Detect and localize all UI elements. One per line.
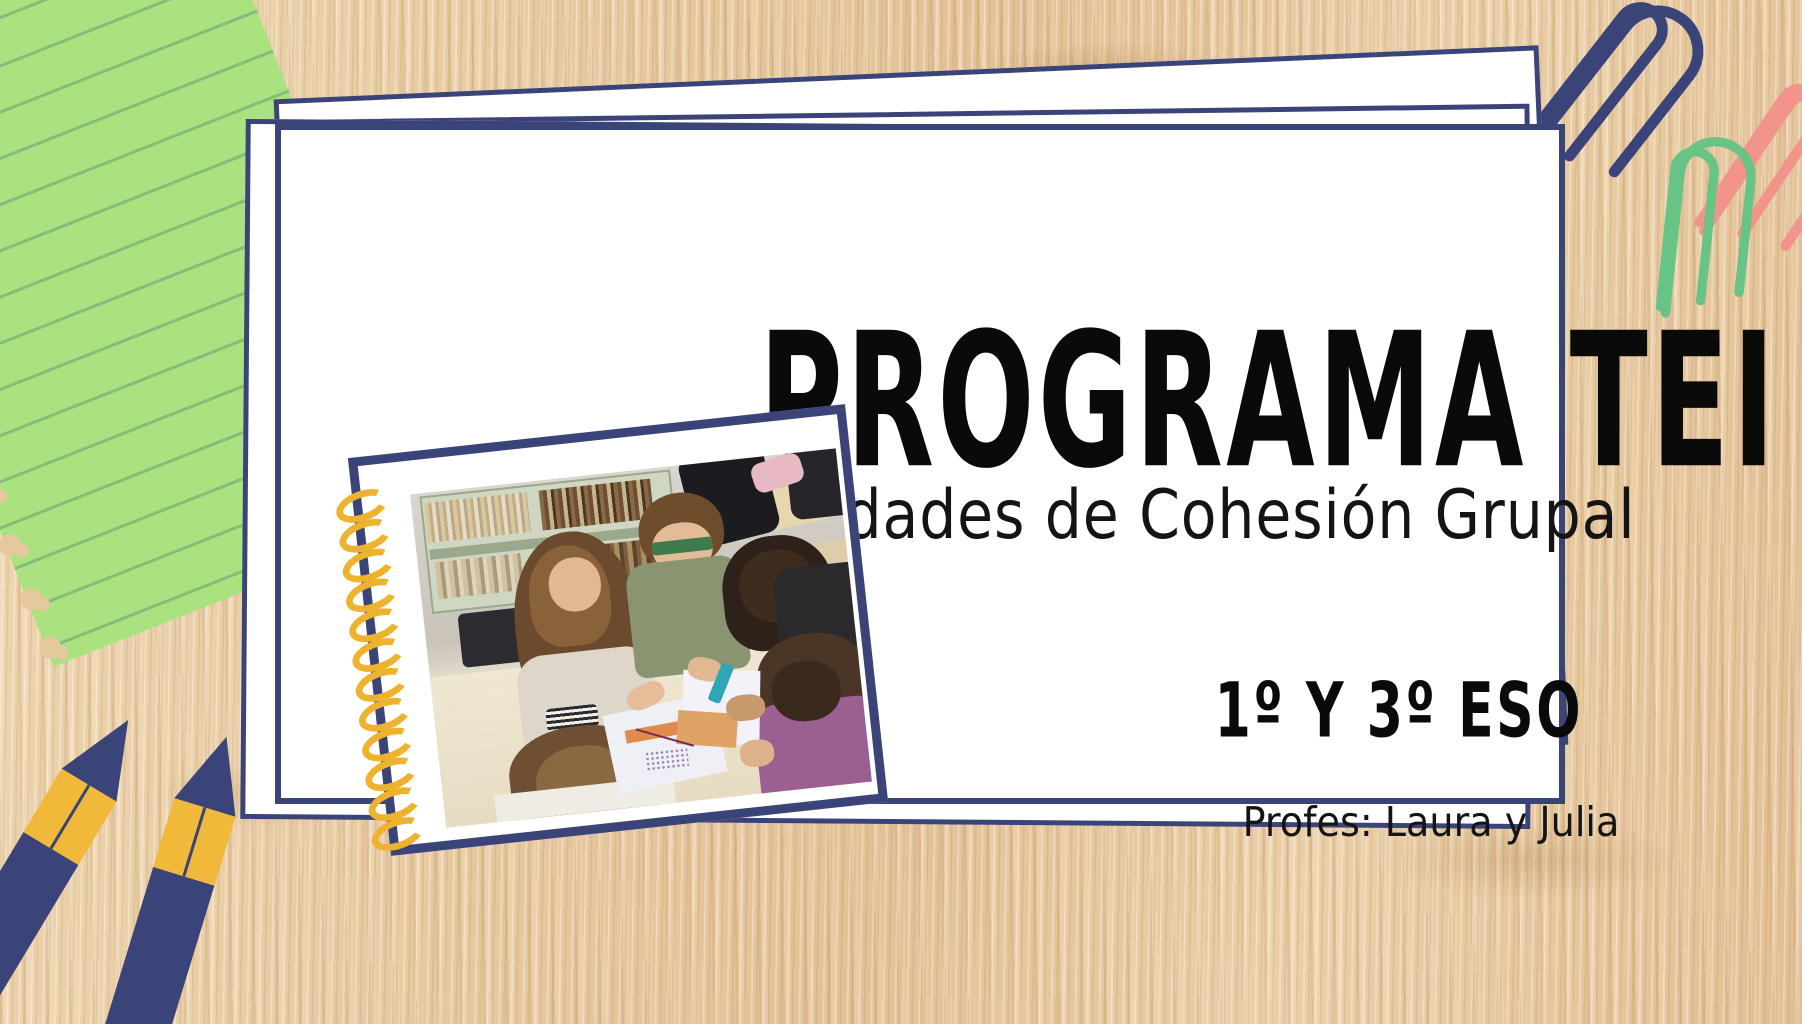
presentation-slide: PROGRAMA TEI Actividades de Cohesión Gru… [0,0,1802,1024]
page-title: PROGRAMA TEI [759,308,1463,494]
teachers-label: Profes: Laura y Julia [1226,802,1635,843]
grade-level-label: 1º Y 3º ESO [1215,673,1568,749]
photo-image [410,448,872,827]
group-activity-photo [348,404,888,856]
photo-scene [410,448,872,827]
